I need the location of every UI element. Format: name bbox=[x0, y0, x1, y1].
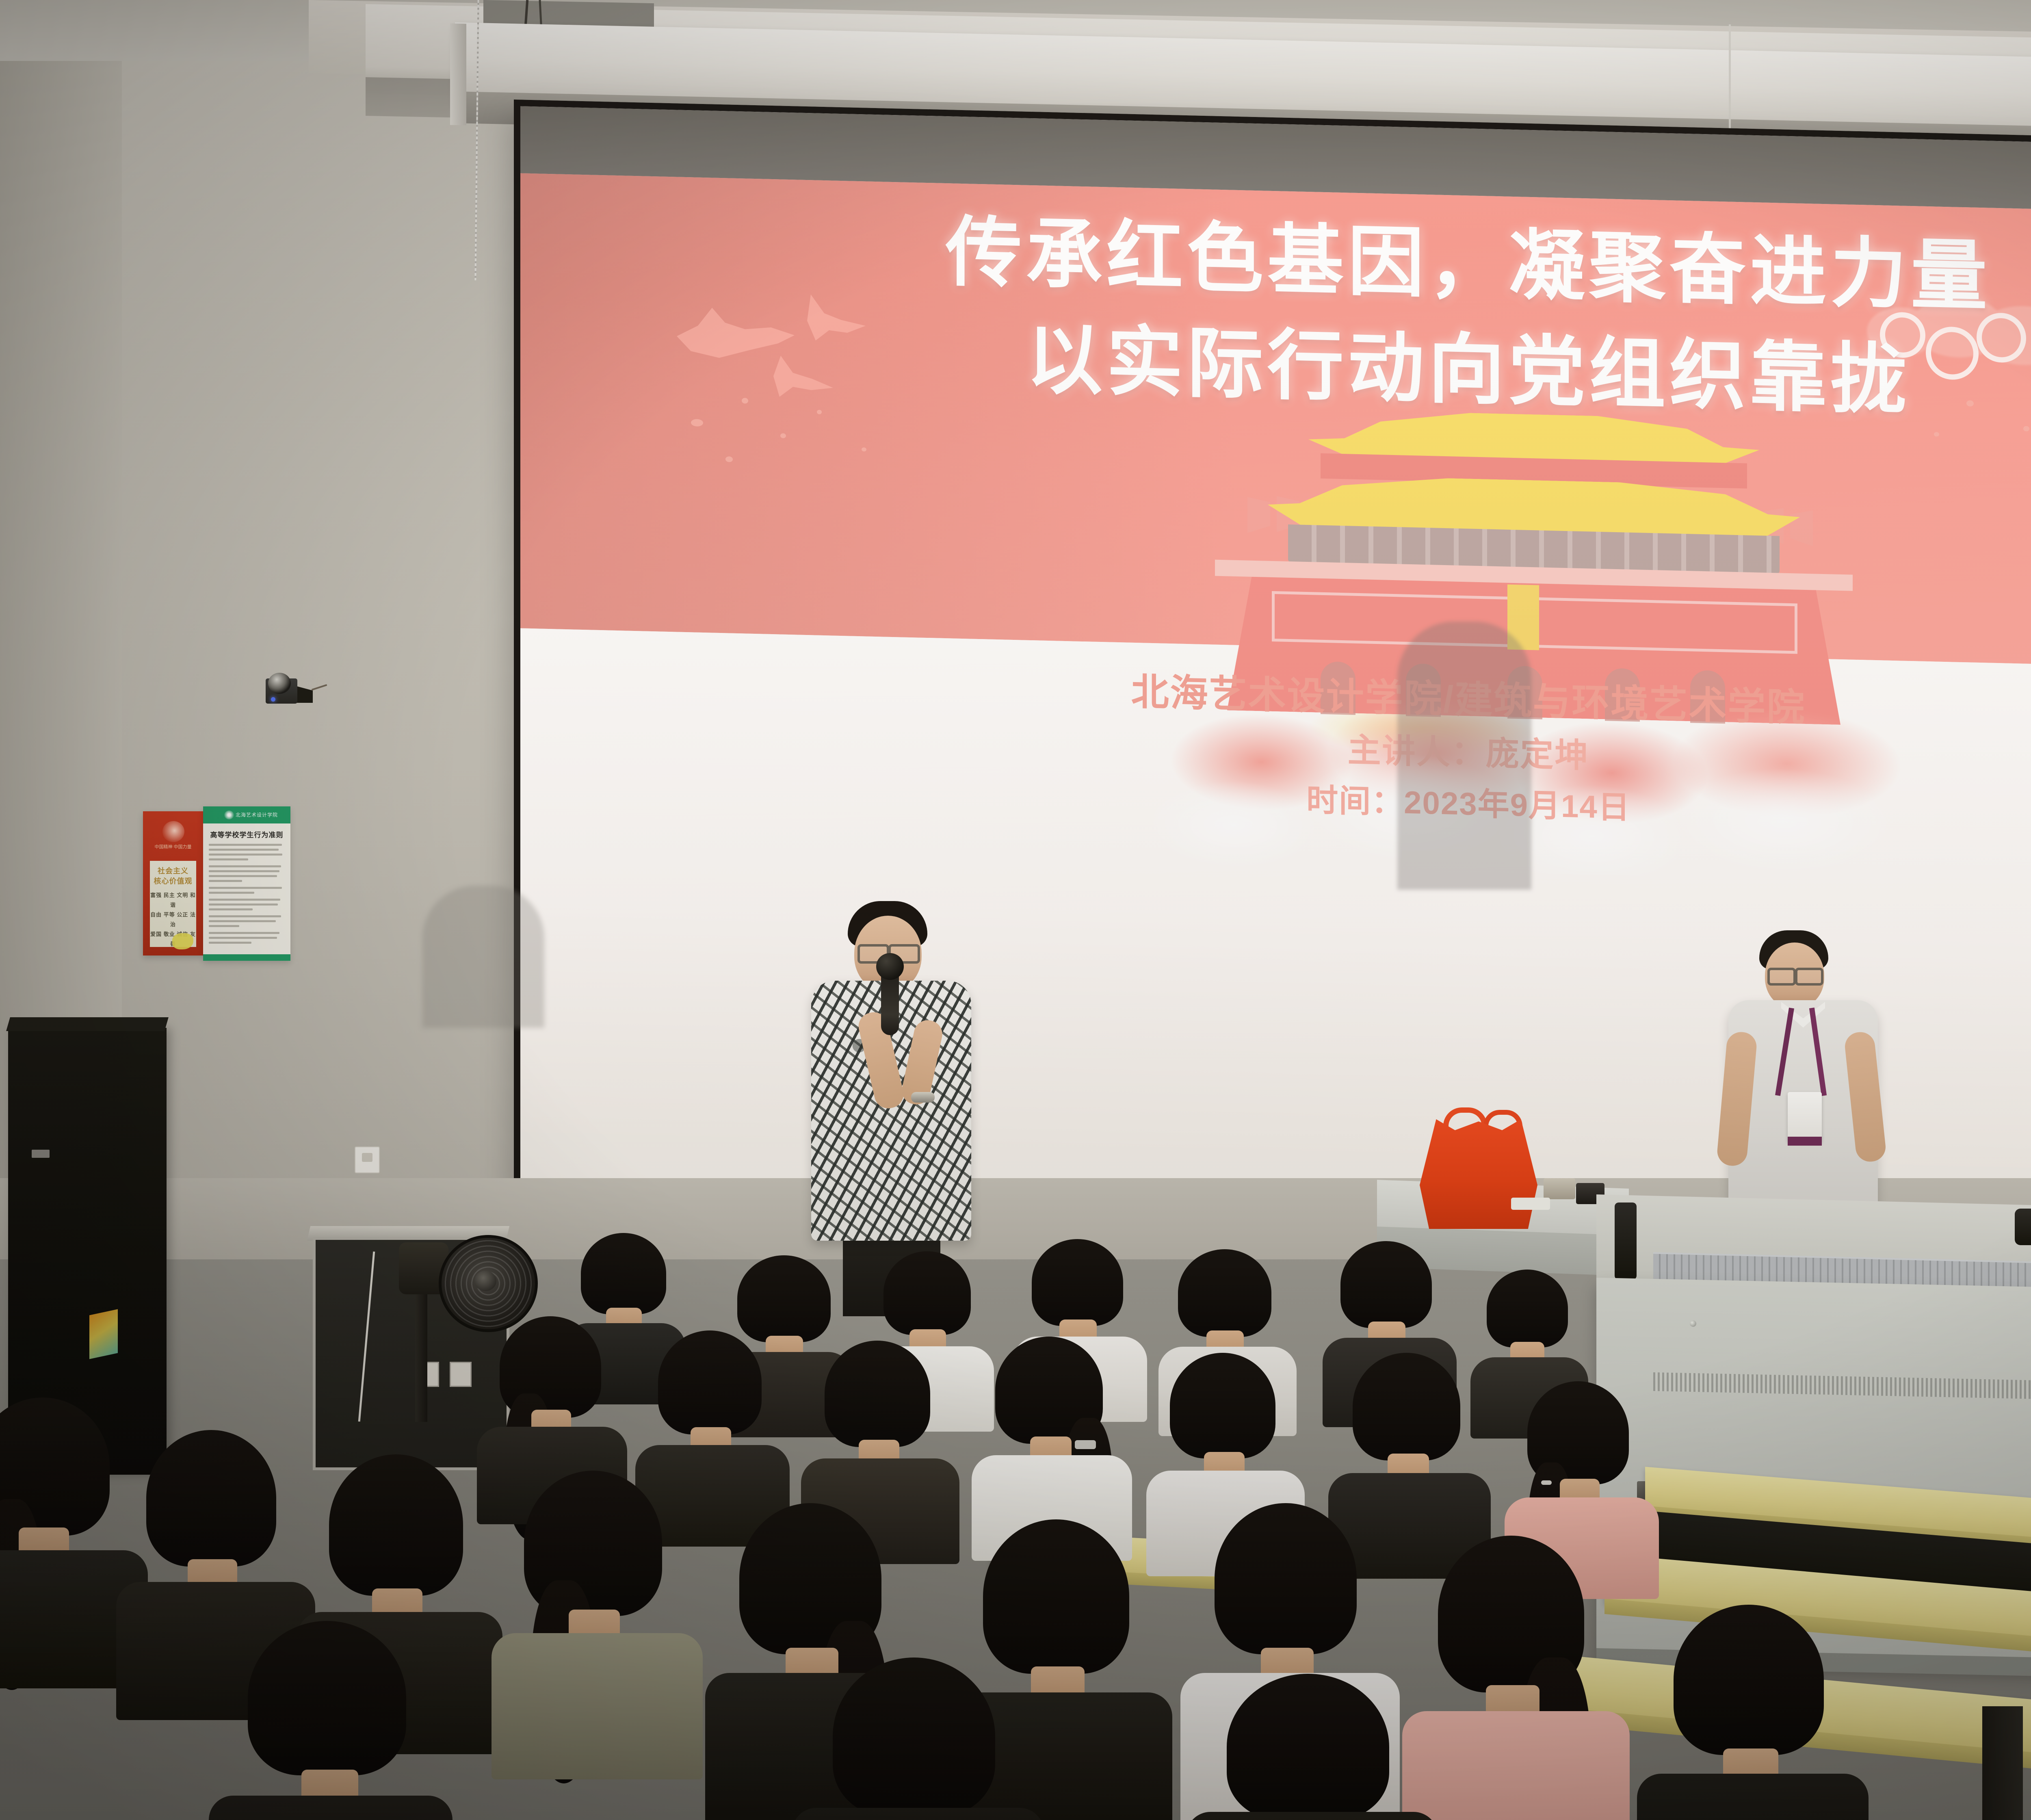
poster-body-text bbox=[209, 844, 285, 947]
audience-member bbox=[146, 1430, 276, 1633]
wristwatch-icon bbox=[911, 1092, 935, 1103]
poster-logo-label: 北海艺术设计学院 bbox=[236, 811, 278, 818]
console-equipment bbox=[2015, 1209, 2031, 1245]
poster-card-title-line1: 社会主义 bbox=[150, 867, 196, 876]
audience-member bbox=[995, 1337, 1103, 1491]
poster-title: 高等学校学生行为准则 bbox=[203, 829, 290, 839]
screen-roller-endcap bbox=[450, 24, 466, 126]
poster-student-code-of-conduct: 北海艺术设计学院 高等学校学生行为准则 bbox=[203, 806, 290, 961]
poster-emblem-caption: 中国精神 中国力量 bbox=[143, 845, 203, 850]
confetti-dot bbox=[817, 410, 822, 414]
glasses-icon bbox=[1795, 968, 1823, 986]
poster-emblem-icon bbox=[162, 821, 184, 842]
poster-values-row2: 自由 平等 公正 法治 bbox=[150, 910, 196, 929]
id-badge bbox=[1788, 1092, 1822, 1142]
lecture-hall-photo: 传承红色基因，凝聚奋进力量 以实际行动向党组织靠拢 北海艺术设计学院/建筑与环境… bbox=[0, 0, 2031, 1820]
confetti-dot bbox=[2023, 426, 2029, 431]
camera-lens-icon bbox=[268, 673, 291, 694]
microphone-head-icon bbox=[876, 953, 904, 980]
desk-item[interactable] bbox=[1511, 1198, 1550, 1210]
audience-member bbox=[1527, 1381, 1629, 1532]
speaker-label-sticker bbox=[89, 1309, 118, 1359]
audience-member bbox=[1438, 1536, 1584, 1771]
cart-switch-panel[interactable] bbox=[450, 1362, 472, 1387]
camera-mount-bracket bbox=[295, 686, 313, 703]
audience-member bbox=[983, 1519, 1129, 1751]
person-shadow-on-screen bbox=[422, 886, 544, 1028]
plastic-shopping-bag[interactable] bbox=[1420, 1119, 1537, 1229]
fan-hub bbox=[474, 1271, 496, 1291]
audience-member bbox=[1340, 1241, 1432, 1371]
audience-member bbox=[1227, 1674, 1389, 1820]
desk-item[interactable] bbox=[1544, 1178, 1575, 1199]
glasses-icon bbox=[1767, 968, 1796, 986]
confetti-dot bbox=[725, 456, 733, 462]
camera-status-led bbox=[271, 697, 275, 702]
id-badge-strip bbox=[1788, 1137, 1822, 1146]
school-logo-icon bbox=[224, 810, 234, 819]
audience-member bbox=[248, 1621, 406, 1820]
speaker-top-bevel bbox=[6, 1017, 169, 1031]
audience-member bbox=[1487, 1270, 1568, 1387]
confetti-dot bbox=[862, 447, 866, 451]
ventilation-grille bbox=[1653, 1372, 2031, 1401]
confetti-dot bbox=[1934, 432, 1939, 436]
audience-member bbox=[1674, 1605, 1824, 1820]
audience-member bbox=[0, 1397, 110, 1601]
poster-values-row1: 富强 民主 文明 和谐 bbox=[150, 890, 196, 910]
audience-member bbox=[1353, 1353, 1460, 1509]
poster-footer-band bbox=[203, 954, 290, 961]
cabinet-lock-icon bbox=[1690, 1320, 1696, 1327]
power-outlet[interactable] bbox=[355, 1146, 380, 1173]
confetti-dot bbox=[780, 433, 786, 438]
audience-member bbox=[524, 1471, 662, 1690]
poster-highlight-mark bbox=[172, 933, 193, 949]
poster-card-title-line2: 核心价值观 bbox=[150, 877, 196, 886]
poster-core-socialist-values: 中国精神 中国力量 社会主义 核心价值观 富强 民主 文明 和谐 自由 平等 公… bbox=[143, 811, 203, 955]
person-shadow-on-screen bbox=[1397, 622, 1531, 890]
ptz-camera bbox=[260, 669, 313, 706]
microphone-stand bbox=[1615, 1202, 1637, 1280]
audience-member bbox=[658, 1330, 762, 1481]
confetti-dot bbox=[691, 419, 703, 427]
audience-member bbox=[1170, 1353, 1275, 1507]
confetti-dot bbox=[742, 398, 748, 403]
fan-stand bbox=[415, 1292, 427, 1422]
audience-member bbox=[500, 1316, 601, 1462]
audience-member bbox=[833, 1657, 995, 1820]
speaker-brand-badge bbox=[32, 1150, 50, 1158]
audience-member bbox=[825, 1341, 930, 1495]
